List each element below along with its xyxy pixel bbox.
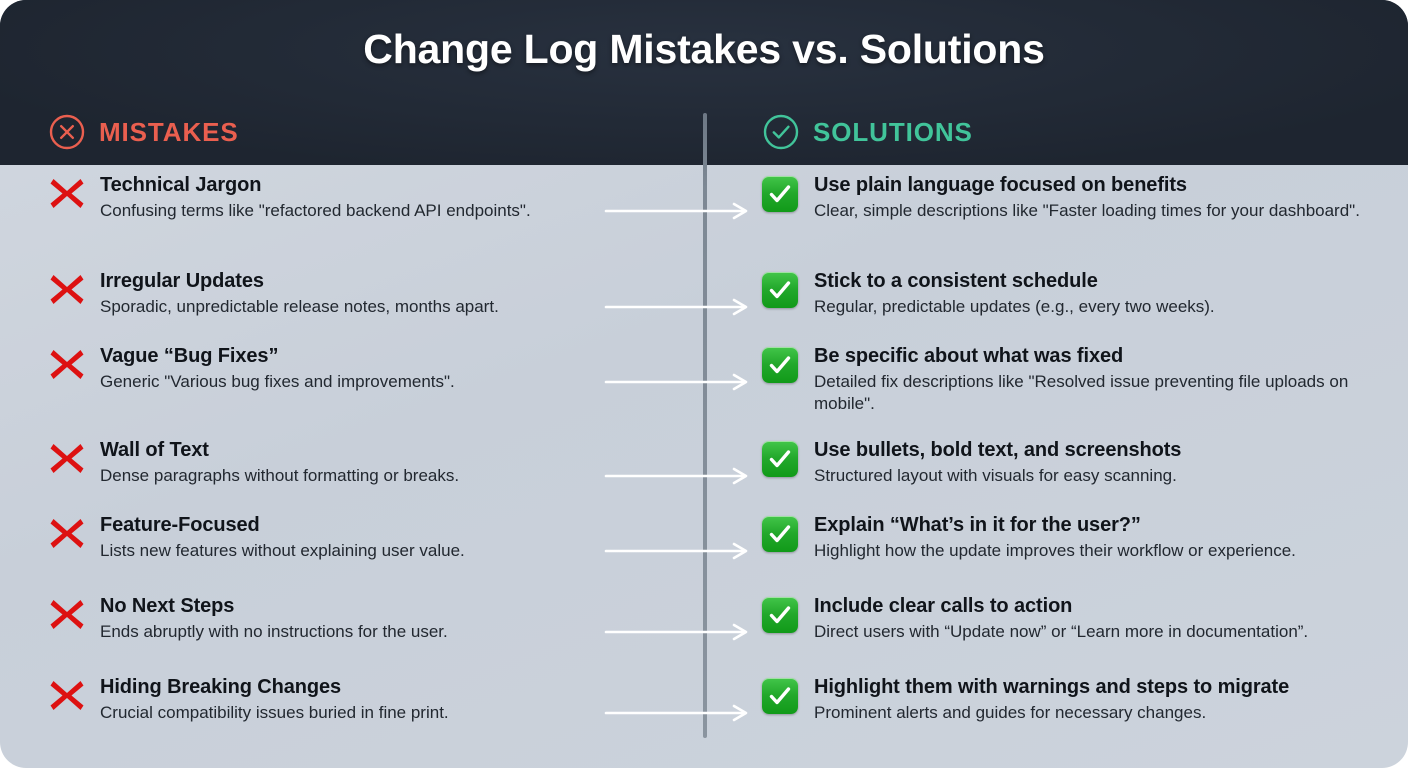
- comparison-row: No Next StepsEnds abruptly with no instr…: [0, 594, 1408, 663]
- arrow-right-glyph: [604, 372, 752, 392]
- mistake-title: Vague “Bug Fixes”: [100, 344, 608, 369]
- solution-title: Stick to a consistent schedule: [814, 269, 1377, 294]
- check-mark-glyph: [762, 272, 798, 308]
- mistake-title: Feature-Focused: [100, 513, 608, 538]
- cross-mark-glyph: [48, 176, 86, 210]
- check-mark-icon: [762, 516, 800, 562]
- solution-item: Use bullets, bold text, and screenshotsS…: [762, 438, 1377, 487]
- column-header-mistakes-label: MISTAKES: [99, 117, 239, 148]
- cross-mark-glyph: [48, 597, 86, 631]
- check-mark-glyph: [762, 678, 798, 714]
- column-header-solutions: SOLUTIONS: [762, 113, 973, 151]
- solution-description: Prominent alerts and guides for necessar…: [814, 702, 1377, 724]
- solution-item: Use plain language focused on benefitsCl…: [762, 173, 1377, 222]
- connector-arrow-icon: [604, 703, 752, 723]
- mistake-title: Hiding Breaking Changes: [100, 675, 608, 700]
- arrow-right-glyph: [604, 201, 752, 221]
- cross-mark-glyph: [48, 441, 86, 475]
- solution-title: Use bullets, bold text, and screenshots: [814, 438, 1377, 463]
- mistake-item: Vague “Bug Fixes”Generic "Various bug fi…: [48, 344, 608, 393]
- mistake-item: Wall of TextDense paragraphs without for…: [48, 438, 608, 487]
- arrow-right-glyph: [604, 703, 752, 723]
- check-mark-icon: [762, 597, 800, 643]
- solution-item: Stick to a consistent scheduleRegular, p…: [762, 269, 1377, 318]
- arrow-right-glyph: [604, 622, 752, 642]
- comparison-row: Irregular UpdatesSporadic, unpredictable…: [0, 269, 1408, 338]
- check-mark-glyph: [762, 597, 798, 633]
- cross-mark-icon: [48, 516, 86, 562]
- comparison-row: Vague “Bug Fixes”Generic "Various bug fi…: [0, 344, 1408, 413]
- mistake-item: Irregular UpdatesSporadic, unpredictable…: [48, 269, 608, 318]
- solution-description: Regular, predictable updates (e.g., ever…: [814, 296, 1377, 318]
- mistake-description: Crucial compatibility issues buried in f…: [100, 702, 608, 724]
- solution-title: Include clear calls to action: [814, 594, 1377, 619]
- column-header-mistakes: MISTAKES: [48, 113, 239, 151]
- mistake-description: Confusing terms like "refactored backend…: [100, 200, 608, 222]
- arrow-right-glyph: [604, 297, 752, 317]
- arrow-right-glyph: [604, 541, 752, 561]
- check-mark-glyph: [762, 347, 798, 383]
- solution-description: Structured layout with visuals for easy …: [814, 465, 1377, 487]
- solution-title: Highlight them with warnings and steps t…: [814, 675, 1377, 700]
- check-mark-icon: [762, 347, 800, 415]
- check-mark-icon: [762, 272, 800, 318]
- mistake-title: No Next Steps: [100, 594, 608, 619]
- cross-mark-icon: [48, 176, 86, 222]
- connector-arrow-icon: [604, 466, 752, 486]
- solution-item: Be specific about what was fixedDetailed…: [762, 344, 1377, 415]
- connector-arrow-icon: [604, 297, 752, 317]
- arrow-right-glyph: [604, 466, 752, 486]
- column-header-solutions-label: SOLUTIONS: [813, 117, 973, 148]
- solution-description: Direct users with “Update now” or “Learn…: [814, 621, 1377, 643]
- cross-mark-icon: [48, 347, 86, 393]
- comparison-row: Wall of TextDense paragraphs without for…: [0, 438, 1408, 507]
- cross-mark-glyph: [48, 516, 86, 550]
- mistake-title: Wall of Text: [100, 438, 608, 463]
- solution-item: Highlight them with warnings and steps t…: [762, 675, 1377, 724]
- cross-mark-glyph: [48, 347, 86, 381]
- check-mark-glyph: [762, 516, 798, 552]
- check-mark-glyph: [762, 441, 798, 477]
- mistake-title: Irregular Updates: [100, 269, 608, 294]
- cross-mark-icon: [48, 597, 86, 643]
- connector-arrow-icon: [604, 541, 752, 561]
- cross-mark-icon: [48, 272, 86, 318]
- comparison-rows: Technical JargonConfusing terms like "re…: [0, 165, 1408, 768]
- mistake-title: Technical Jargon: [100, 173, 608, 198]
- mistake-item: Hiding Breaking ChangesCrucial compatibi…: [48, 675, 608, 724]
- mistake-description: Generic "Various bug fixes and improveme…: [100, 371, 608, 393]
- comparison-row: Feature-FocusedLists new features withou…: [0, 513, 1408, 582]
- solution-title: Be specific about what was fixed: [814, 344, 1377, 369]
- mistake-description: Sporadic, unpredictable release notes, m…: [100, 296, 608, 318]
- check-mark-glyph: [762, 176, 798, 212]
- mistake-item: No Next StepsEnds abruptly with no instr…: [48, 594, 608, 643]
- mistake-description: Ends abruptly with no instructions for t…: [100, 621, 608, 643]
- solution-item: Explain “What’s in it for the user?”High…: [762, 513, 1377, 562]
- check-mark-icon: [762, 176, 800, 222]
- mistake-item: Technical JargonConfusing terms like "re…: [48, 173, 608, 222]
- solution-description: Highlight how the update improves their …: [814, 540, 1377, 562]
- connector-arrow-icon: [604, 201, 752, 221]
- cross-mark-icon: [48, 678, 86, 724]
- cross-mark-icon: [48, 441, 86, 487]
- infographic-root: Change Log Mistakes vs. Solutions MISTAK…: [0, 0, 1408, 768]
- mistake-item: Feature-FocusedLists new features withou…: [48, 513, 608, 562]
- check-mark-icon: [762, 441, 800, 487]
- circle-x-icon: [48, 113, 86, 151]
- connector-arrow-icon: [604, 372, 752, 392]
- check-mark-icon: [762, 678, 800, 724]
- comparison-row: Hiding Breaking ChangesCrucial compatibi…: [0, 675, 1408, 744]
- cross-mark-glyph: [48, 272, 86, 306]
- solution-description: Clear, simple descriptions like "Faster …: [814, 200, 1377, 222]
- solution-description: Detailed fix descriptions like "Resolved…: [814, 371, 1377, 415]
- solution-title: Use plain language focused on benefits: [814, 173, 1377, 198]
- page-title: Change Log Mistakes vs. Solutions: [0, 26, 1408, 73]
- cross-mark-glyph: [48, 678, 86, 712]
- mistake-description: Dense paragraphs without formatting or b…: [100, 465, 608, 487]
- comparison-row: Technical JargonConfusing terms like "re…: [0, 173, 1408, 242]
- mistake-description: Lists new features without explaining us…: [100, 540, 608, 562]
- connector-arrow-icon: [604, 622, 752, 642]
- circle-check-icon: [762, 113, 800, 151]
- solution-title: Explain “What’s in it for the user?”: [814, 513, 1377, 538]
- solution-item: Include clear calls to actionDirect user…: [762, 594, 1377, 643]
